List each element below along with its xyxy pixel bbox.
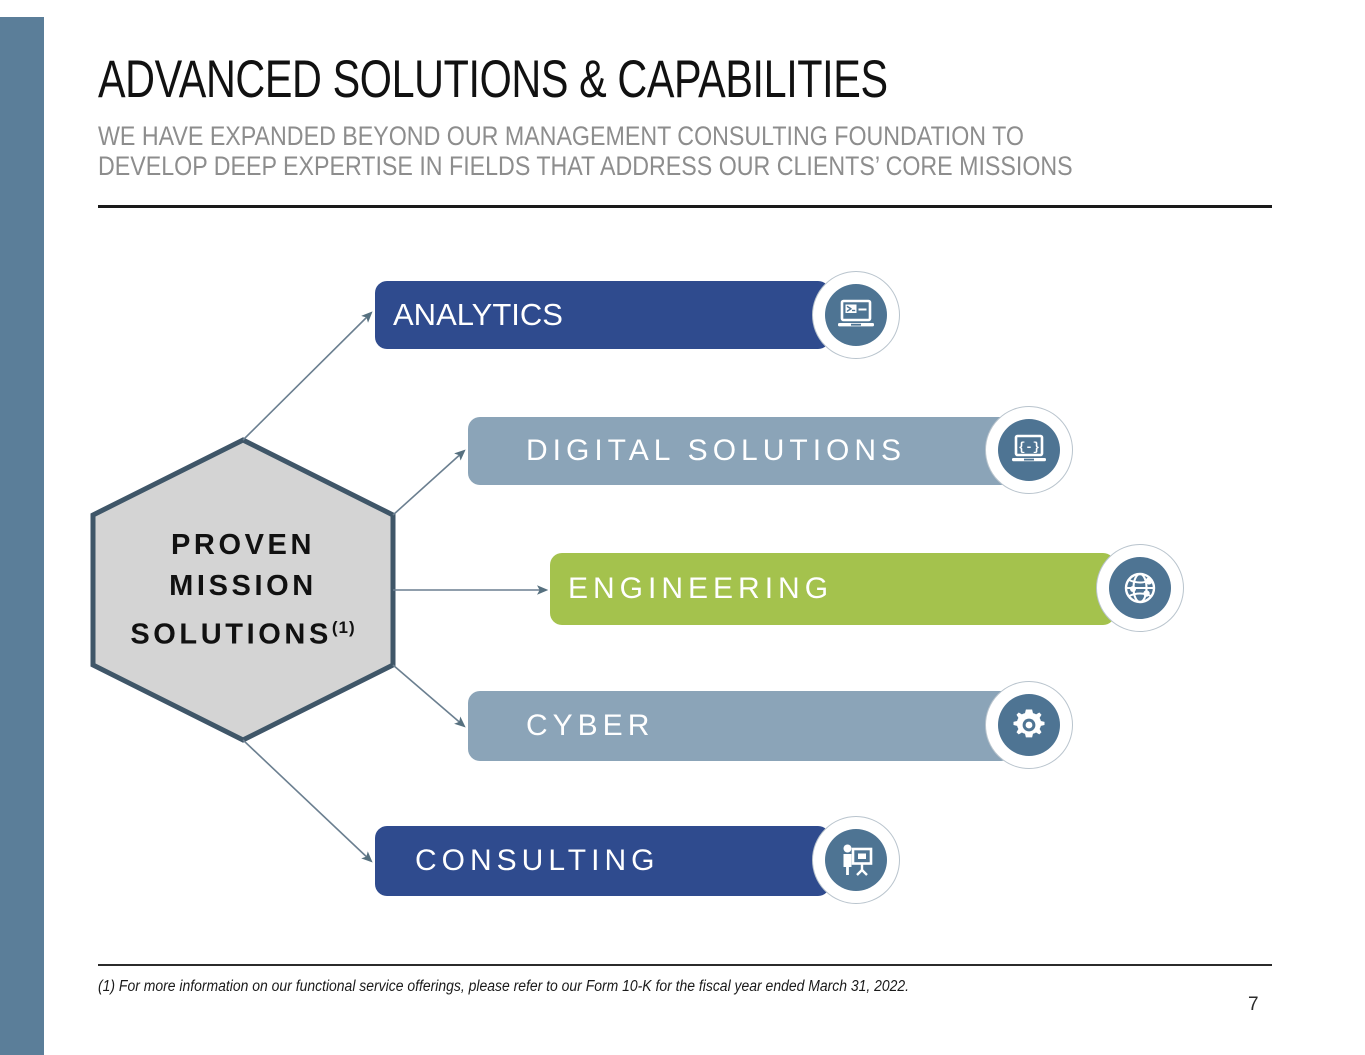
- hexagon-line-3: SOLUTIONS: [130, 618, 332, 650]
- capability-icon-badge-cyber[interactable]: [985, 681, 1073, 769]
- slide-canvas: ADVANCED SOLUTIONS & CAPABILITIES WE HAV…: [0, 0, 1365, 1055]
- capability-label-cyber: CYBER: [526, 709, 654, 743]
- hexagon-label: PROVEN MISSION SOLUTIONS(1): [93, 440, 393, 740]
- capability-icon-badge-engineering[interactable]: [1096, 544, 1184, 632]
- footnote-text: (1) For more information on our function…: [98, 978, 1088, 996]
- capability-bar-cyber[interactable]: CYBER: [468, 691, 1013, 761]
- capability-label-consulting: CONSULTING: [415, 844, 659, 878]
- footer-divider: [98, 964, 1272, 966]
- hexagon-line-2: MISSION: [169, 566, 317, 607]
- capability-icon-badge-consulting[interactable]: [812, 816, 900, 904]
- connector-analytics: [243, 313, 371, 440]
- presenter-board-icon: [825, 829, 887, 891]
- subtitle-line-2: DEVELOP DEEP EXPERTISE IN FIELDS THAT AD…: [98, 151, 1173, 181]
- capability-icon-badge-digital-solutions[interactable]: {-}: [985, 406, 1073, 494]
- page-number: 7: [1248, 994, 1259, 1016]
- capability-label-engineering: ENGINEERING: [568, 572, 833, 606]
- svg-text:{-}: {-}: [1018, 441, 1040, 455]
- gear-icon: [998, 694, 1060, 756]
- capability-label-digital-solutions: DIGITAL SOLUTIONS: [526, 434, 906, 468]
- connector-cyber: [393, 665, 464, 726]
- page-title: ADVANCED SOLUTIONS & CAPABILITIES: [98, 52, 1018, 108]
- globe-network-icon: [1109, 557, 1171, 619]
- left-accent-bar: [0, 17, 44, 1055]
- hexagon-line-1: PROVEN: [171, 525, 315, 566]
- laptop-code-icon: {-}: [998, 419, 1060, 481]
- capability-bar-consulting[interactable]: CONSULTING: [375, 826, 830, 896]
- capability-icon-badge-analytics[interactable]: [812, 271, 900, 359]
- hexagon-line-3-wrap: SOLUTIONS(1): [130, 607, 355, 656]
- hexagon-footnote-marker: (1): [332, 618, 356, 637]
- capability-label-analytics: ANALYTICS: [393, 297, 563, 333]
- connector-digital: [393, 451, 464, 515]
- subtitle-line-1: WE HAVE EXPANDED BEYOND OUR MANAGEMENT C…: [98, 121, 1173, 151]
- capability-bar-analytics[interactable]: ANALYTICS: [375, 281, 830, 349]
- capability-bar-engineering[interactable]: ENGINEERING: [550, 553, 1115, 625]
- connector-consulting: [243, 740, 371, 861]
- page-subtitle: WE HAVE EXPANDED BEYOND OUR MANAGEMENT C…: [98, 121, 1173, 181]
- proven-mission-solutions-hexagon[interactable]: PROVEN MISSION SOLUTIONS(1): [93, 440, 393, 740]
- laptop-terminal-icon: [825, 284, 887, 346]
- capability-bar-digital-solutions[interactable]: DIGITAL SOLUTIONS: [468, 417, 1013, 485]
- header-divider: [98, 205, 1272, 208]
